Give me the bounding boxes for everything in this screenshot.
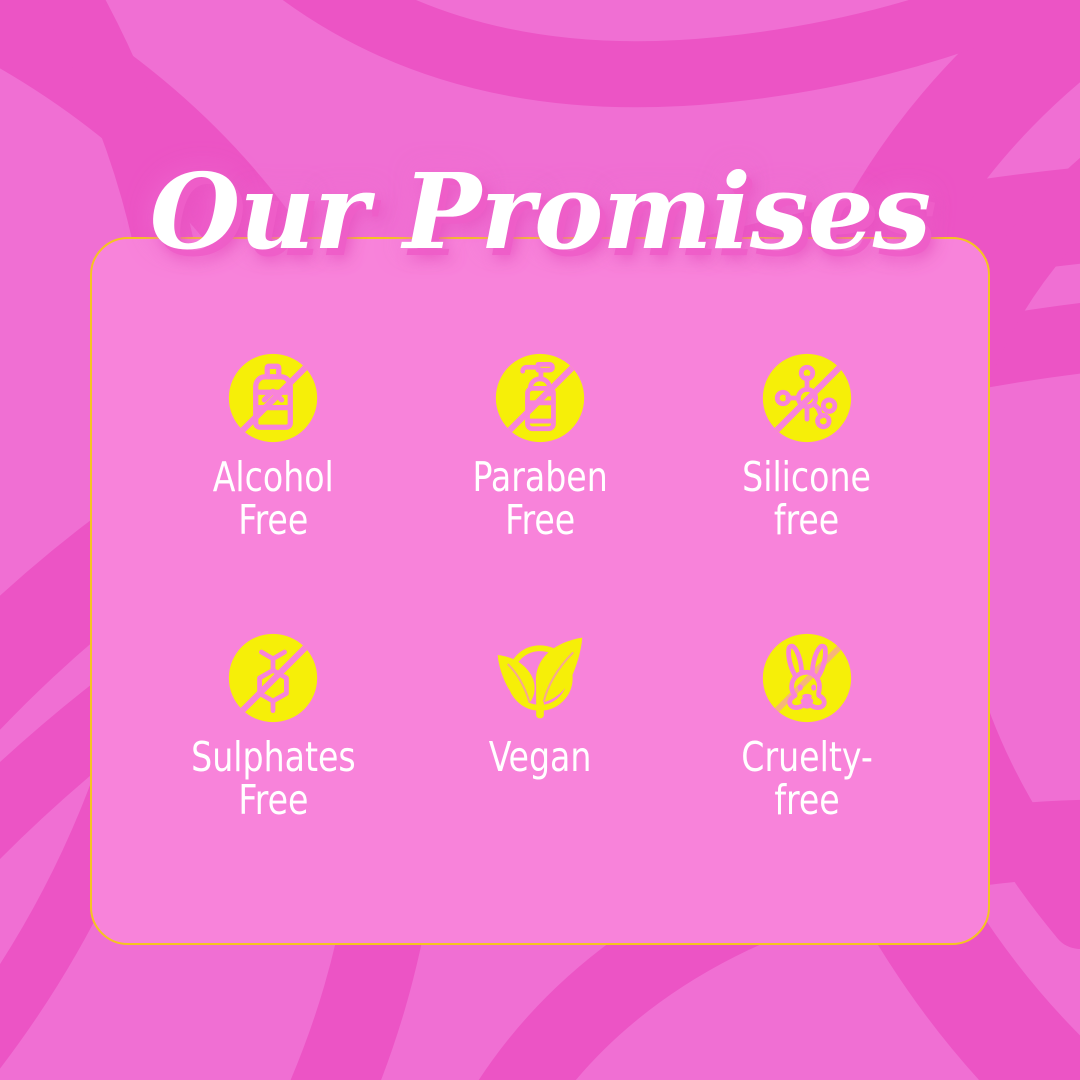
page-title: Our Promises xyxy=(0,160,1080,264)
no-alcohol-bottle-icon xyxy=(225,350,321,446)
promise-item-alcohol-free[interactable]: Alcohol Free xyxy=(140,350,407,630)
promise-label: Vegan xyxy=(489,736,592,779)
promise-item-vegan[interactable]: Vegan xyxy=(407,630,674,910)
no-molecule-icon xyxy=(759,350,855,446)
promises-grid: Alcohol Free xyxy=(140,350,940,910)
promise-label: Sulphates Free xyxy=(191,736,356,821)
promise-item-cruelty-free[interactable]: Cruelty- free xyxy=(673,630,940,910)
promise-label: Alcohol Free xyxy=(213,456,334,541)
no-pump-bottle-icon xyxy=(492,350,588,446)
no-hexagon-chemical-icon xyxy=(225,630,321,726)
leaf-plant-icon xyxy=(492,630,588,726)
promises-graphic: Our Promises Alcohol F xyxy=(0,0,1080,1080)
promise-label: Silicone free xyxy=(742,456,871,541)
rabbit-head-icon xyxy=(759,630,855,726)
promise-item-sulphates-free[interactable]: Sulphates Free xyxy=(140,630,407,910)
promise-item-silicone-free[interactable]: Silicone free xyxy=(673,350,940,630)
promise-label: Paraben Free xyxy=(472,456,607,541)
promise-label: Cruelty- free xyxy=(741,736,873,821)
promise-item-paraben-free[interactable]: Paraben Free xyxy=(407,350,674,630)
